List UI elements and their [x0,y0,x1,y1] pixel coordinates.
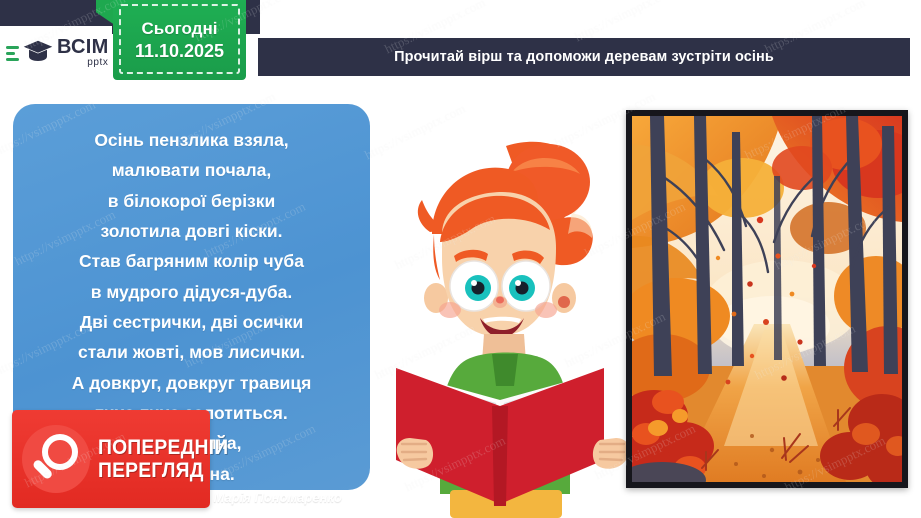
brand-logo[interactable]: ВСІМ pptx [6,31,110,73]
poem-line: стали жовті, мов лисички. [78,338,305,366]
preview-watermark-badge: ПОПЕРЕДНІЙ ПЕРЕГЛЯД [12,410,210,508]
poem-line: в білокорої берізки [108,187,276,215]
poem-line: А довкруг, довкруг травиця [72,369,312,397]
date-badge-value: 11.10.2025 [135,41,224,62]
poem-line: Дві сестрички, дві осички [80,308,304,336]
reading-child-illustration [388,138,638,518]
slide-canvas: ВСІМ pptx Сьогодні 11.10.2025 Прочитай в… [0,0,921,518]
logo-speed-lines-icon [6,43,19,61]
preview-badge-line1: ПОПЕРЕДНІЙ [98,437,228,458]
logo-wordmark: ВСІМ pptx [57,37,109,68]
logo-title: ВСІМ [57,37,109,57]
poem-author: Марія Пономаренко [213,490,342,505]
magnifier-icon [22,425,90,493]
date-badge-label: Сьогодні [142,19,218,39]
graduation-cap-icon [23,37,53,67]
poem-line: в мудрого дідуся-дуба. [91,278,293,306]
autumn-forest-photo [632,116,902,482]
logo-subtitle: pptx [87,58,108,68]
page-title: Прочитай вірш та допоможи деревам зустрі… [394,49,774,65]
poem-line: Осінь пензлика взяла, [94,126,288,154]
poem-line: Став багряним колір чуба [79,247,304,275]
preview-badge-text: ПОПЕРЕДНІЙ ПЕРЕГЛЯД [98,437,240,482]
slide-title-bar: Прочитай вірш та допоможи деревам зустрі… [258,38,910,76]
poem-line: золотила довгі кіски. [101,217,283,245]
preview-badge-line2: ПЕРЕГЛЯД [98,460,228,481]
autumn-forest-photo-frame [626,110,908,488]
poem-line: малювати почала, [112,156,271,184]
date-badge: Сьогодні 11.10.2025 [113,0,246,80]
